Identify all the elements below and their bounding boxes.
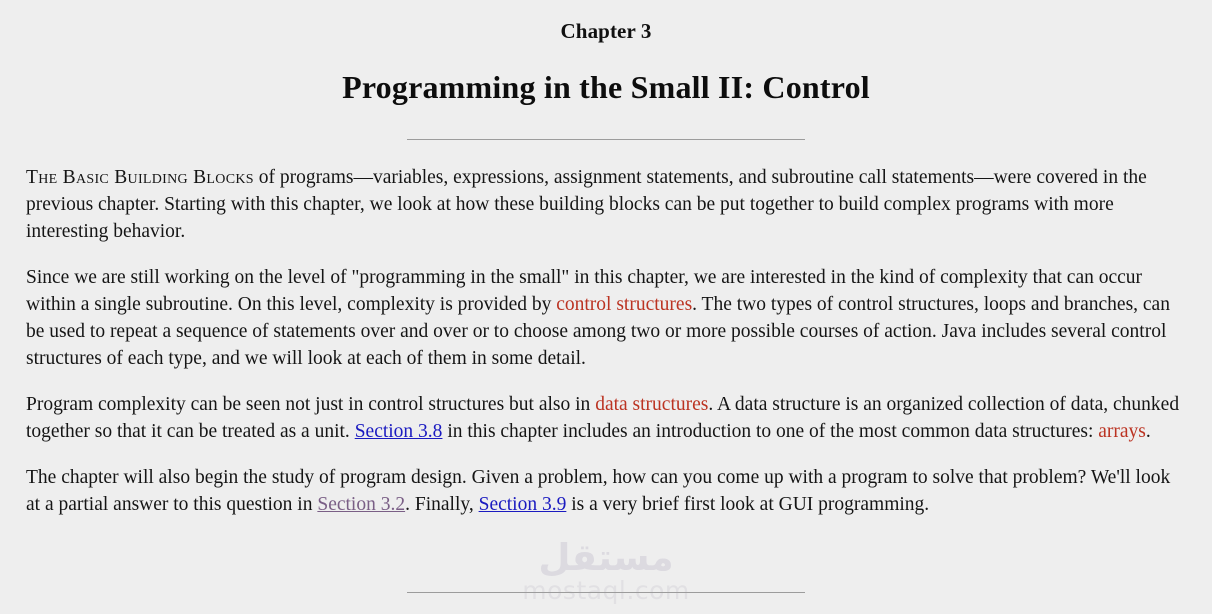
document-page: Chapter 3 Programming in the Small II: C… (0, 0, 1212, 614)
watermark: مستقل mostaql.com (0, 537, 1212, 605)
link-section-3-9[interactable]: Section 3.9 (479, 494, 567, 515)
data-text-a: Program complexity can be seen not just … (26, 394, 595, 415)
watermark-domain: mostaql.com (522, 577, 689, 605)
paragraph-intro: The Basic Building Blocks of programs—va… (26, 164, 1186, 245)
chapter-number: Chapter 3 (26, 0, 1186, 43)
term-data-structures: data structures (595, 394, 708, 415)
term-arrays: arrays (1098, 421, 1146, 442)
divider-bottom (407, 592, 805, 593)
data-text-c: in this chapter includes an introduction… (442, 421, 1098, 442)
link-section-3-2[interactable]: Section 3.2 (317, 494, 405, 515)
term-control-structures: control structures (556, 294, 692, 315)
page-title: Programming in the Small II: Control (26, 43, 1186, 106)
watermark-arabic-logo: مستقل (538, 537, 673, 579)
lead-smallcaps: The Basic Building Blocks (26, 167, 254, 188)
body-content: The Basic Building Blocks of programs—va… (26, 164, 1186, 518)
paragraph-complexity: Since we are still working on the level … (26, 264, 1186, 372)
design-text-b: . Finally, (405, 494, 479, 515)
paragraph-program-design: The chapter will also begin the study of… (26, 464, 1186, 518)
data-text-d: . (1146, 421, 1151, 442)
design-text-c: is a very brief first look at GUI progra… (566, 494, 929, 515)
paragraph-data-structures: Program complexity can be seen not just … (26, 391, 1186, 445)
link-section-3-8[interactable]: Section 3.8 (355, 421, 443, 442)
divider-top (407, 139, 805, 140)
